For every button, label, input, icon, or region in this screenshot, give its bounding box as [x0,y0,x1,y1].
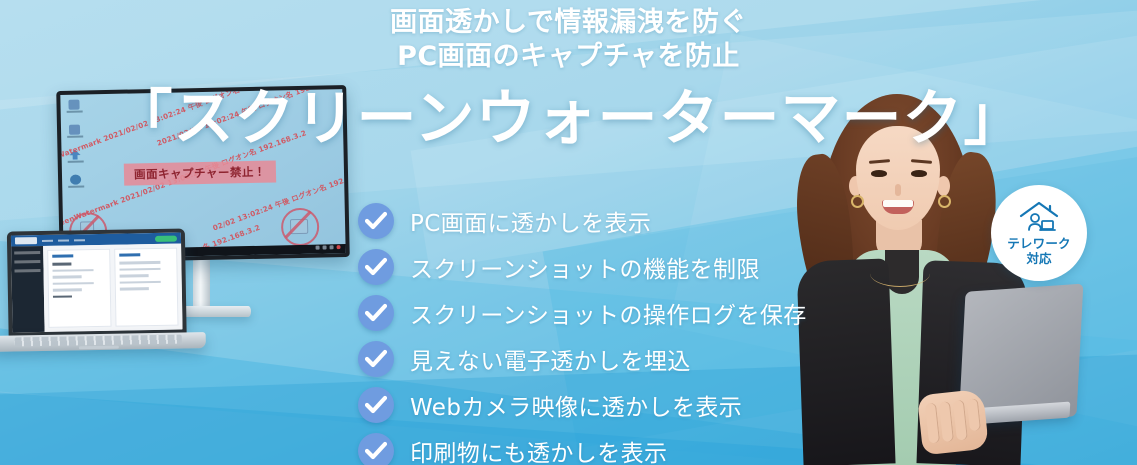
dashboard-main [43,244,182,332]
capture-prohibited-banner: 画面キャプチャー禁止！ [124,160,276,185]
feature-label: 見えない電子透かしを埋込 [410,342,691,376]
admin-console-laptop [0,228,206,367]
check-icon [358,341,394,377]
necklace [870,260,930,287]
laptop-lid [7,228,187,337]
feature-label: Webカメラ映像に透かしを表示 [410,388,742,422]
earring [851,195,864,208]
eye [871,170,887,177]
black-jacket-left [796,258,895,465]
feature-item: 印刷物にも透かしを表示 [358,428,807,465]
feature-item: スクリーンショットの操作ログを保存 [358,290,807,336]
dashboard-menu-item [74,239,85,241]
feature-item: スクリーンショットの機能を制限 [358,244,807,290]
dashboard-logo [15,237,37,244]
hero-banner: enWatermark 2021/02/02 13:02:24 午後 ログオン名… [0,0,1137,465]
telework-badge: テレワーク 対応 [991,185,1087,281]
dashboard-card [114,248,178,327]
home-telework-icon [1017,200,1061,236]
nose [895,184,901,196]
feature-label: PC画面に透かしを表示 [410,204,651,238]
product-title: 「スクリーンウォーターマーク」 [0,88,1137,151]
telework-badge-line-1: テレワーク [1007,237,1071,251]
hero-headline: 画面透かしで情報漏洩を防ぐ PC画面のキャプチャを防止 [0,6,1137,74]
earring [938,195,951,208]
check-icon [358,249,394,285]
no-screenshot-icon [281,208,320,247]
telework-badge-line-2: 対応 [1026,252,1051,266]
laptop-keyboard [15,335,182,347]
feature-item: PC画面に透かしを表示 [358,198,807,244]
laptop-screen [11,233,183,333]
headline-line-1: 画面透かしで情報漏洩を防ぐ [390,7,747,38]
dashboard-action-button [155,235,177,241]
feature-list: PC画面に透かしを表示 スクリーンショットの機能を制限 スクリーンショットの操作… [358,198,807,465]
check-icon [358,387,394,423]
dashboard-menu-item [58,239,69,241]
dashboard-sidebar [11,246,44,333]
hand [917,389,989,456]
dashboard-menu-item [42,239,53,241]
eye [911,170,927,177]
check-icon [358,295,394,331]
feature-label: 印刷物にも透かしを表示 [410,434,667,465]
headline-line-2: PC画面のキャプチャを防止 [0,40,1137,74]
check-icon [358,203,394,239]
check-icon [358,433,394,465]
feature-item: 見えない電子透かしを埋込 [358,336,807,382]
feature-item: Webカメラ映像に透かしを表示 [358,382,807,428]
feature-label: スクリーンショットの機能を制限 [410,250,760,284]
laptop-base [0,332,206,352]
dashboard-card [47,249,111,328]
desktop-icon-browser [69,175,82,188]
laptop-trackpad [78,346,118,350]
feature-label: スクリーンショットの操作ログを保存 [410,296,807,330]
dashboard-body [11,244,182,333]
